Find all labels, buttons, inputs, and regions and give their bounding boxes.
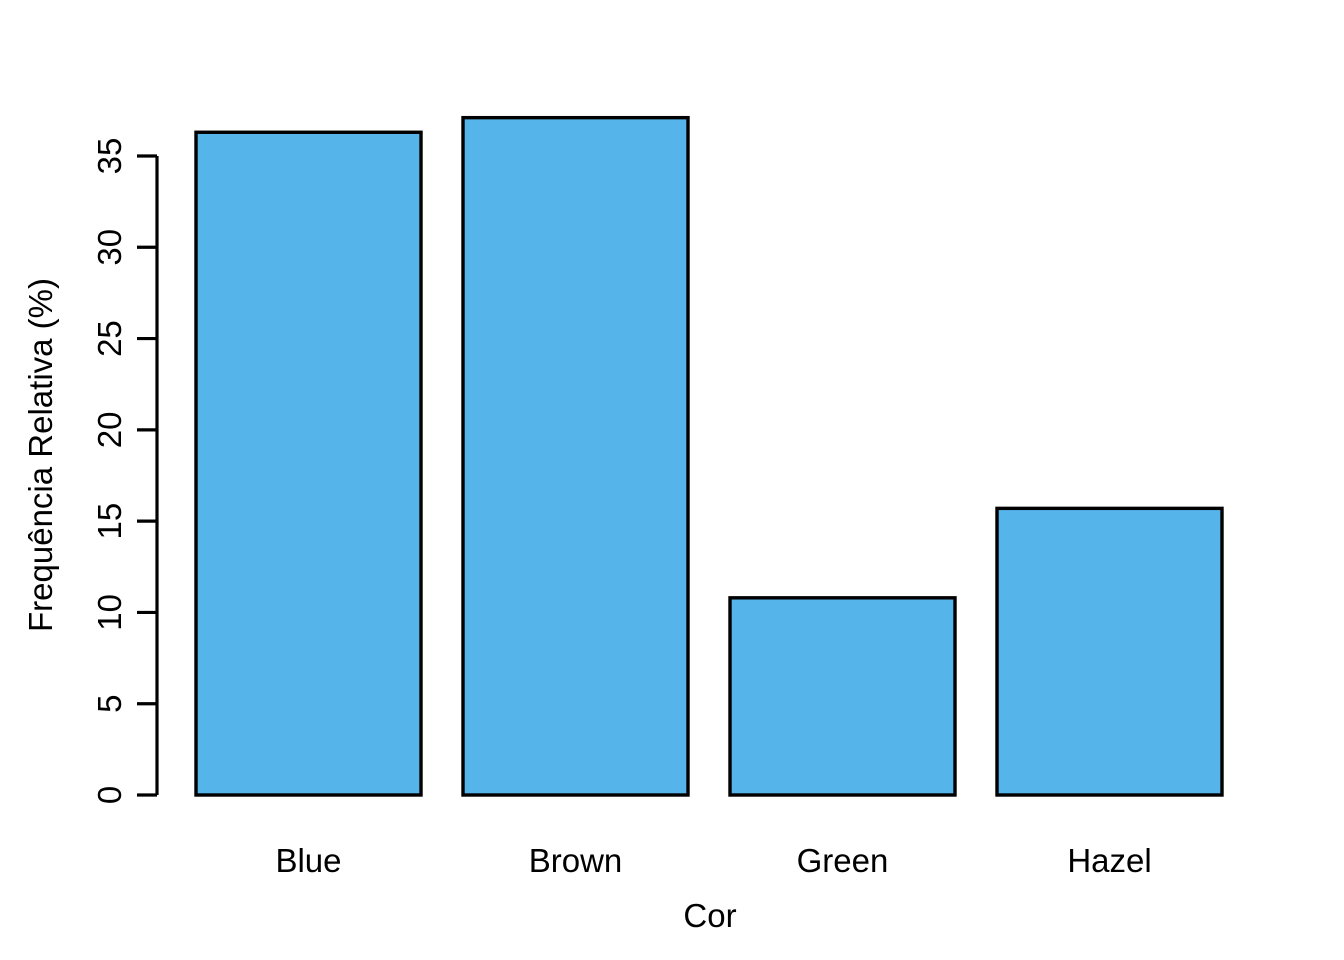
bar-hazel xyxy=(997,508,1222,795)
bar-chart: 05101520253035 BlueBrownGreenHazel Cor F… xyxy=(0,0,1344,960)
y-tick-label-0: 0 xyxy=(91,786,128,804)
y-tick-label-20: 20 xyxy=(91,411,128,448)
bar-brown xyxy=(463,118,688,795)
bar-blue xyxy=(196,132,421,795)
x-category-label-hazel: Hazel xyxy=(1067,842,1151,879)
y-tick-label-25: 25 xyxy=(91,320,128,357)
y-tick-label-10: 10 xyxy=(91,594,128,631)
x-axis-title: Cor xyxy=(683,897,736,934)
chart-canvas: 05101520253035 BlueBrownGreenHazel Cor F… xyxy=(0,0,1344,960)
bar-green xyxy=(730,598,955,795)
y-tick-label-35: 35 xyxy=(91,138,128,175)
y-tick-label-15: 15 xyxy=(91,503,128,540)
y-tick-label-30: 30 xyxy=(91,229,128,266)
y-tick-label-5: 5 xyxy=(91,695,128,713)
x-category-label-brown: Brown xyxy=(529,842,623,879)
x-category-label-blue: Blue xyxy=(275,842,341,879)
y-axis-title: Frequência Relativa (%) xyxy=(22,278,59,632)
x-category-label-green: Green xyxy=(797,842,889,879)
